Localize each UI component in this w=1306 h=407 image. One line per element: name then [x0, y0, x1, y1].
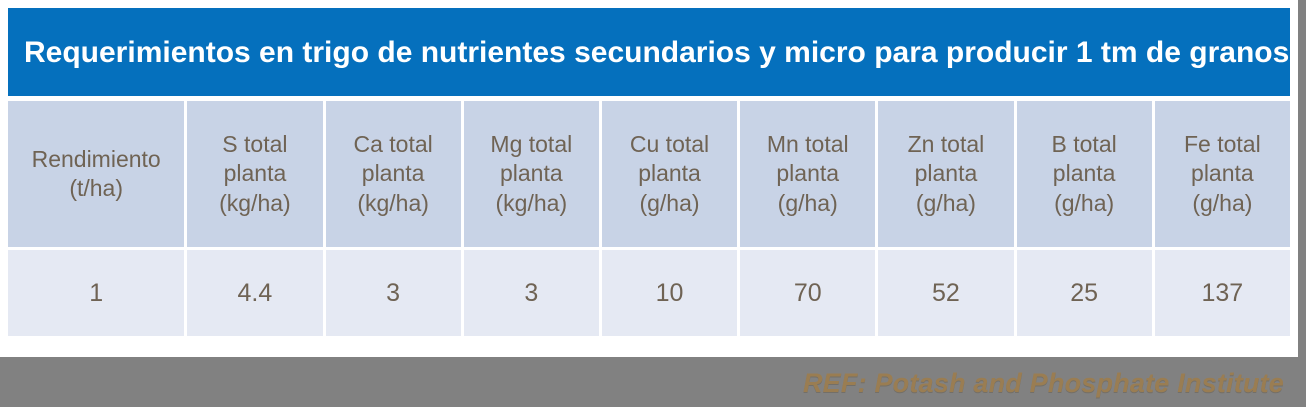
header-nutrient: Mn total [740, 130, 875, 159]
table-header-row: Rendimiento (t/ha) S total planta (kg/ha… [8, 101, 1290, 247]
column-header-s-total: S total planta (kg/ha) [187, 101, 322, 247]
header-qualifier: planta [326, 159, 461, 188]
right-edge-rail [1298, 0, 1306, 407]
header-unit: (g/ha) [602, 189, 737, 218]
header-nutrient: Rendimiento [8, 145, 184, 174]
header-qualifier: planta [187, 159, 322, 188]
header-qualifier: planta [740, 159, 875, 188]
cell-fe-total: 137 [1155, 250, 1290, 336]
header-unit: (g/ha) [740, 189, 875, 218]
table-row: 1 4.4 3 3 10 70 52 25 137 [8, 250, 1290, 336]
header-nutrient: S total [187, 130, 322, 159]
nutrient-requirements-table: Rendimiento (t/ha) S total planta (kg/ha… [8, 101, 1290, 336]
header-unit: (g/ha) [1155, 189, 1290, 218]
header-unit: (g/ha) [1017, 189, 1152, 218]
header-unit: (kg/ha) [187, 189, 322, 218]
header-unit: (t/ha) [8, 174, 184, 203]
cell-mg-total: 3 [464, 250, 599, 336]
page-title: Requerimientos en trigo de nutrientes se… [8, 36, 1298, 69]
column-header-mn-total: Mn total planta (g/ha) [740, 101, 875, 247]
header-qualifier: planta [878, 159, 1013, 188]
header-unit: (kg/ha) [326, 189, 461, 218]
cell-b-total: 25 [1017, 250, 1152, 336]
header-qualifier: planta [602, 159, 737, 188]
column-header-cu-total: Cu total planta (g/ha) [602, 101, 737, 247]
source-reference: REF: Potash and Phosphate Institute [803, 368, 1284, 399]
header-qualifier: planta [1155, 159, 1290, 188]
column-header-b-total: B total planta (g/ha) [1017, 101, 1152, 247]
header-nutrient: Cu total [602, 130, 737, 159]
slide-title-bar: Requerimientos en trigo de nutrientes se… [8, 8, 1290, 96]
cell-rendimiento: 1 [8, 250, 184, 336]
column-header-fe-total: Fe total planta (g/ha) [1155, 101, 1290, 247]
header-unit: (kg/ha) [464, 189, 599, 218]
header-unit: (g/ha) [878, 189, 1013, 218]
header-nutrient: Mg total [464, 130, 599, 159]
cell-mn-total: 70 [740, 250, 875, 336]
column-header-rendimiento: Rendimiento (t/ha) [8, 101, 184, 247]
cell-zn-total: 52 [878, 250, 1013, 336]
header-nutrient: Zn total [878, 130, 1013, 159]
column-header-mg-total: Mg total planta (kg/ha) [464, 101, 599, 247]
column-header-ca-total: Ca total planta (kg/ha) [326, 101, 461, 247]
slide-root: Requerimientos en trigo de nutrientes se… [0, 0, 1306, 407]
header-nutrient: B total [1017, 130, 1152, 159]
header-qualifier: planta [464, 159, 599, 188]
data-table: Rendimiento (t/ha) S total planta (kg/ha… [5, 98, 1293, 339]
cell-ca-total: 3 [326, 250, 461, 336]
cell-cu-total: 10 [602, 250, 737, 336]
header-nutrient: Ca total [326, 130, 461, 159]
cell-s-total: 4.4 [187, 250, 322, 336]
column-header-zn-total: Zn total planta (g/ha) [878, 101, 1013, 247]
header-nutrient: Fe total [1155, 130, 1290, 159]
footer-band: REF: Potash and Phosphate Institute [0, 357, 1306, 407]
header-qualifier: planta [1017, 159, 1152, 188]
